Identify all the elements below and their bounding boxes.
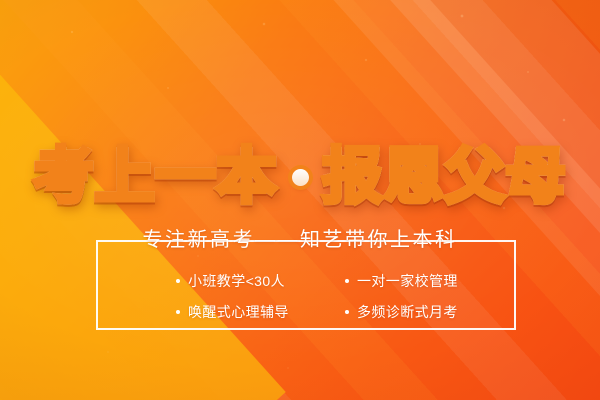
list-item-label: 多频诊断式月考	[357, 305, 458, 319]
list-item-label: 唤醒式心理辅导	[188, 305, 289, 319]
headline-right-text: 报恩父母	[323, 147, 567, 207]
feature-list: 小班教学<30人 一对一家校管理 唤醒式心理辅导 多频诊断式月考	[96, 258, 512, 326]
bullet-dot-icon	[176, 310, 180, 314]
subtitle-text: 专注新高考——知艺带你上本科	[143, 230, 458, 250]
headline: 考上一本 报恩父母	[0, 138, 600, 216]
list-item-label: 小班教学<30人	[188, 274, 285, 288]
list-item: 小班教学<30人	[96, 266, 301, 295]
list-item: 唤醒式心理辅导	[96, 297, 301, 326]
dot-separator-icon	[292, 169, 309, 186]
bullet-dot-icon	[345, 310, 349, 314]
list-item: 多频诊断式月考	[307, 297, 512, 326]
headline-left-text: 考上一本	[34, 147, 278, 207]
subtitle-container: 专注新高考——知艺带你上本科	[129, 230, 472, 250]
promo-banner: 考上一本 报恩父母 专注新高考——知艺带你上本科 小班教学<30人 一对一家校管…	[0, 0, 600, 400]
list-item: 一对一家校管理	[307, 266, 512, 295]
bullet-dot-icon	[176, 279, 180, 283]
bullet-dot-icon	[345, 279, 349, 283]
list-item-label: 一对一家校管理	[357, 274, 458, 288]
